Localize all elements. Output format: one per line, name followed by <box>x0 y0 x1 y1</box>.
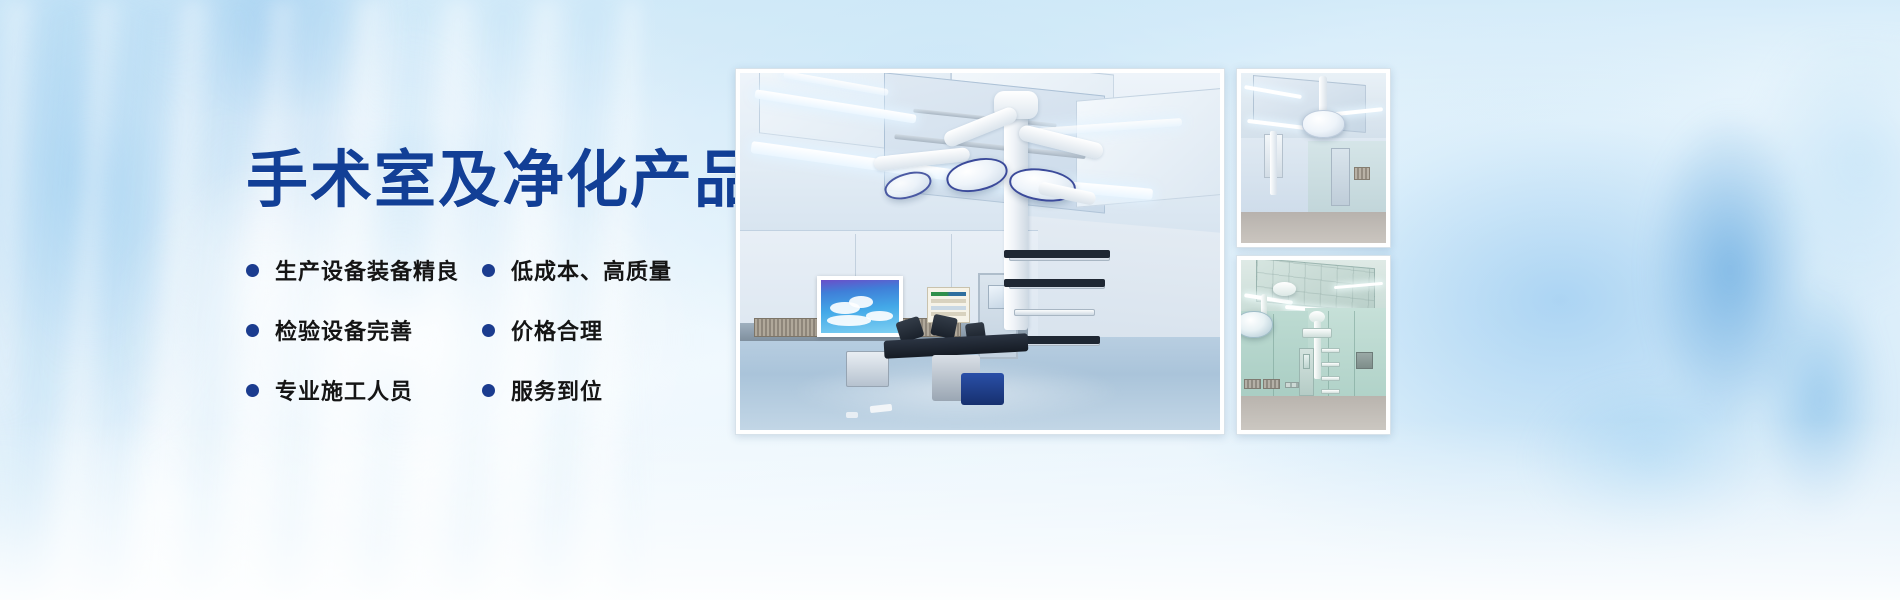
feature-item: 专业施工人员 <box>246 374 482 406</box>
notice-row <box>931 292 966 296</box>
background-right-swoosh <box>1400 40 1900 580</box>
feature-item: 低成本、高质量 <box>482 254 766 286</box>
wall-seam <box>1328 311 1329 396</box>
pendant-shelf <box>1014 309 1096 317</box>
feature-label: 低成本、高质量 <box>511 254 672 286</box>
feature-item: 检验设备完善 <box>246 314 482 346</box>
floor-object <box>846 412 858 418</box>
wall-sockets <box>1285 382 1300 388</box>
page-title: 手术室及净化产品 <box>246 150 766 212</box>
bullet-dot-icon <box>246 324 259 337</box>
feature-label: 生产设备装备精良 <box>275 254 459 286</box>
pendant-shelf <box>1321 389 1340 394</box>
wall-equipment-panel <box>1356 352 1373 369</box>
feature-item: 生产设备装备精良 <box>246 254 482 286</box>
notice-row <box>931 299 966 303</box>
pendant-column <box>1004 109 1028 330</box>
floor-return-vent <box>754 318 821 338</box>
operating-room-main-photo <box>740 73 1220 430</box>
cloud <box>849 296 873 308</box>
pendant-shelf <box>1321 348 1340 353</box>
operating-room-door <box>1299 348 1314 396</box>
surgical-lamp <box>1302 110 1346 137</box>
equipment-cart <box>961 373 1004 405</box>
operating-room-green-photo <box>1241 260 1386 430</box>
banner-text-block: 手术室及净化产品 生产设备装备精良 低成本、高质量 检验设备完善 价格合理 专业… <box>246 150 766 406</box>
feature-list: 生产设备装备精良 低成本、高质量 检验设备完善 价格合理 专业施工人员 服务到位 <box>246 254 766 406</box>
pendant-rail <box>1004 250 1110 258</box>
thumbnail-bottom-frame <box>1236 255 1391 435</box>
sky-wall-picture <box>817 276 903 337</box>
instrument-trolley <box>846 351 889 387</box>
background-bottom-fade <box>0 420 1900 600</box>
bullet-dot-icon <box>246 264 259 277</box>
main-photo-frame <box>735 68 1225 435</box>
operating-room-door <box>1331 148 1350 206</box>
feature-label: 价格合理 <box>511 314 603 346</box>
pendant-shelf <box>1321 362 1340 367</box>
floor-return-vent <box>1244 379 1261 389</box>
bullet-dot-icon <box>246 384 259 397</box>
cloud <box>866 311 893 320</box>
bullet-dot-icon <box>482 264 495 277</box>
feature-item: 服务到位 <box>482 374 766 406</box>
pendant-column <box>1270 131 1277 196</box>
pendant-head <box>1302 328 1332 338</box>
wall-vent <box>1354 167 1370 181</box>
bullet-dot-icon <box>482 384 495 397</box>
operating-room-pendant-photo <box>1241 73 1386 243</box>
ceiling-lamp-mount <box>1273 282 1296 296</box>
pendant-rail <box>1004 279 1105 287</box>
feature-item: 价格合理 <box>482 314 766 346</box>
feature-label: 检验设备完善 <box>275 314 413 346</box>
bullet-dot-icon <box>482 324 495 337</box>
door-window <box>1303 354 1311 370</box>
feature-label: 专业施工人员 <box>275 374 413 406</box>
floor <box>1241 396 1386 430</box>
cloud <box>827 315 871 326</box>
floor-return-vent <box>1263 379 1280 389</box>
hero-banner: 手术室及净化产品 生产设备装备精良 低成本、高质量 检验设备完善 价格合理 专业… <box>0 0 1900 600</box>
pendant-shelf <box>1321 376 1340 381</box>
notice-row <box>931 306 966 310</box>
thumbnail-top-frame <box>1236 68 1391 248</box>
floor <box>1241 212 1386 243</box>
feature-label: 服务到位 <box>511 374 603 406</box>
